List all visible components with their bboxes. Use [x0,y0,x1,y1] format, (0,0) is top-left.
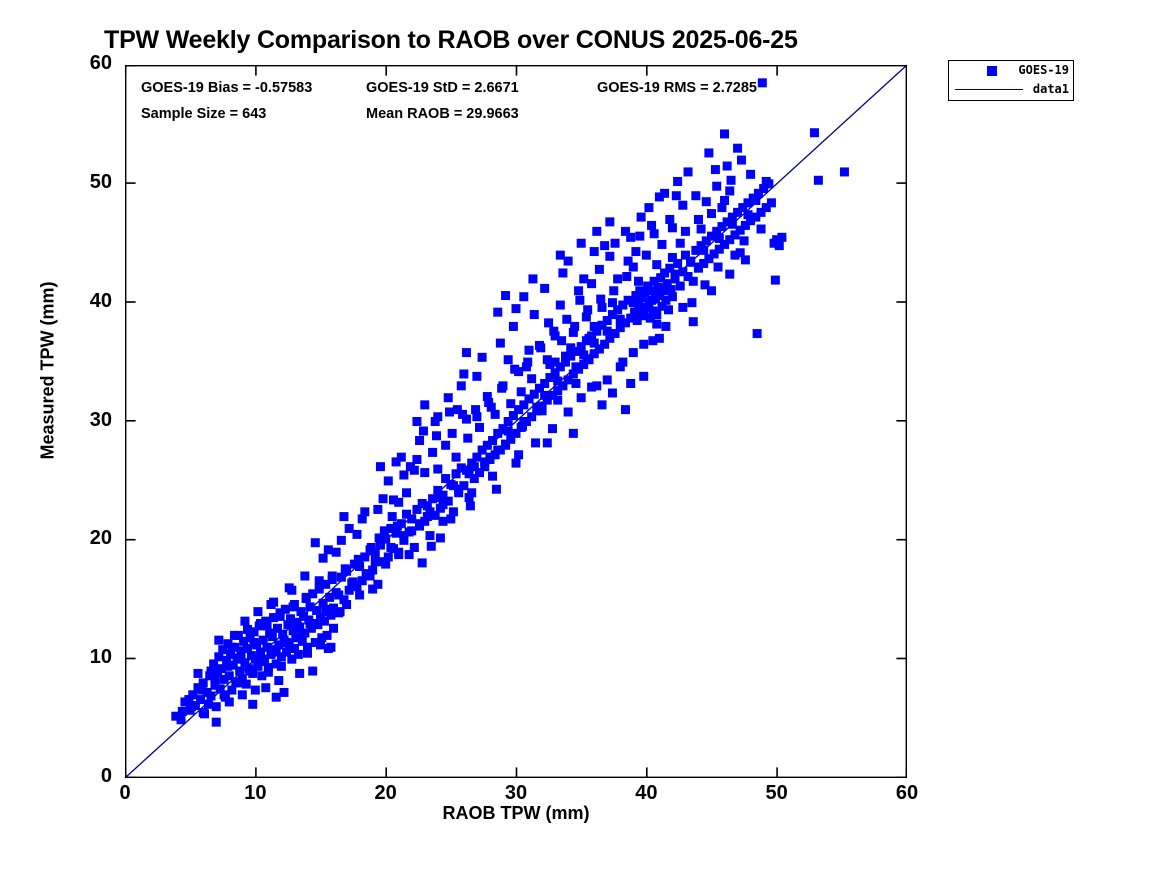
scatter-point [315,576,324,585]
scatter-point [214,636,223,645]
scatter-point [272,693,281,702]
scatter-point [418,558,427,567]
scatter-point [691,191,700,200]
scatter-point [467,488,476,497]
scatter-point [592,381,601,390]
scatter-point [491,410,500,419]
scatter-point [684,167,693,176]
scatter-point [697,224,706,233]
scatter-point [339,512,348,521]
scatter-point [321,605,330,614]
scatter-point [412,417,421,426]
scatter-point [512,304,521,313]
scatter-point [243,625,252,634]
scatter-point [753,329,762,338]
scatter-point [386,543,395,552]
plot-area [125,65,907,778]
scatter-point [624,257,633,266]
scatter-point [556,251,565,260]
scatter-point [650,229,659,238]
scatter-point [664,305,673,314]
scatter-point [261,683,270,692]
scatter-point [543,355,552,364]
scatter-point [635,232,644,241]
scatter-point [259,657,268,666]
scatter-point [237,655,246,664]
scatter-point [733,144,742,153]
scatter-point [428,448,437,457]
scatter-point [238,690,247,699]
scatter-point [496,339,505,348]
scatter-point [540,284,549,293]
scatter-point [634,277,643,286]
scatter-point [240,617,249,626]
scatter-point [510,365,519,374]
scatter-point [531,438,540,447]
scatter-point [207,692,216,701]
scatter-point [655,334,664,343]
scatter-point [639,372,648,381]
scatter-point [767,198,776,207]
scatter-point [287,586,296,595]
scatter-point [557,336,566,345]
scatter-point [771,276,780,285]
scatter-point [373,505,382,514]
scatter-point [715,234,724,243]
scatter-point [564,257,573,266]
scatter-point [504,427,513,436]
scatter-point [523,358,532,367]
scatter-point [577,239,586,248]
scatter-point [439,517,448,526]
scatter-point [306,619,315,628]
scatter-point [553,377,562,386]
line-marker-icon [955,89,1023,90]
scatter-point [598,400,607,409]
scatter-point [436,533,445,542]
scatter-point [300,571,309,580]
scatter-point [629,348,638,357]
scatter-point [199,708,208,717]
scatter-point [509,322,518,331]
scatter-point [436,493,445,502]
scatter-point [394,498,403,507]
scatter-point [295,669,304,678]
scatter-point [230,631,239,640]
scatter-point [528,274,537,283]
chart-figure: TPW Weekly Comparison to RAOB over CONUS… [0,0,1167,875]
scatter-point [178,707,187,716]
scatter-point [277,662,286,671]
scatter-point [676,239,685,248]
scatter-point [575,296,584,305]
scatter-point [609,286,618,295]
scatter-point [207,667,216,676]
x-tick-label: 20 [356,782,416,805]
scatter-point [311,538,320,547]
scatter-point [212,718,221,727]
scatter-point [668,223,677,232]
y-tick-label: 20 [52,527,112,550]
scatter-point [605,217,614,226]
scatter-point [472,372,481,381]
y-axis-label: Measured TPW (mm) [38,201,59,541]
x-tick-label: 30 [486,782,546,805]
scatter-point [393,522,402,531]
scatter-point [341,564,350,573]
scatter-point [652,320,661,329]
scatter-point [452,453,461,462]
scatter-point [590,322,599,331]
scatter-point [665,215,674,224]
scatter-point [253,607,262,616]
scatter-point [574,286,583,295]
x-tick-label: 60 [877,782,937,805]
scatter-point [466,501,475,510]
scatter-point [543,438,552,447]
y-tick-label: 30 [52,409,112,432]
scatter-point [810,128,819,137]
scatter-point [407,514,416,523]
scatter-point [308,667,317,676]
scatter-point [223,662,232,671]
scatter-point [571,362,580,371]
scatter-point [227,643,236,652]
scatter-point [699,246,708,255]
scatter-point [368,585,377,594]
scatter-point [743,210,752,219]
scatter-point [376,462,385,471]
scatter-point [725,270,734,279]
scatter-point [415,519,424,528]
scatter-point [527,374,536,383]
x-tick-label: 50 [747,782,807,805]
scatter-point [639,340,648,349]
chart-legend[interactable]: GOES-19 data1 [948,60,1074,101]
scatter-point [319,554,328,563]
scatter-point [564,407,573,416]
scatter-point [728,220,737,229]
scatter-point [727,176,736,185]
y-tick-label: 10 [52,646,112,669]
scatter-point [561,352,570,361]
scatter-point [475,423,484,432]
scatter-point [250,638,259,647]
scatter-point [448,429,457,438]
scatter-point [751,196,760,205]
annotation-mean-raob: Mean RAOB = 29.9663 [366,106,519,122]
scatter-point [433,465,442,474]
legend-label-data1: data1 [1033,82,1069,96]
scatter-point [227,686,236,695]
scatter-point [251,686,260,695]
scatter-point [689,277,698,286]
scatter-point [427,542,436,551]
scatter-point [345,524,354,533]
scatter-point [712,182,721,191]
scatter-point [569,328,578,337]
scatter-point [459,369,468,378]
scatter-point [352,530,361,539]
scatter-point [595,265,604,274]
scatter-point [501,291,510,300]
annotation-bias: GOES-19 Bias = -0.57583 [141,80,312,96]
scatter-point [388,512,397,521]
scatter-point [324,545,333,554]
scatter-point [840,167,849,176]
scatter-point [671,270,680,279]
x-axis-label: RAOB TPW (mm) [0,803,1032,824]
legend-item-goes19[interactable]: GOES-19 [949,61,1073,81]
y-tick-label: 40 [52,290,112,313]
scatter-point [687,298,696,307]
scatter-point [337,536,346,545]
scatter-point [536,343,545,352]
scatter-point [432,431,441,440]
scatter-point [379,494,388,503]
scatter-point [328,571,337,580]
scatter-point [290,644,299,653]
scatter-point [399,531,408,540]
scatter-point [512,459,521,468]
scatter-point [587,279,596,288]
scatter-point [603,375,612,384]
scatter-point [289,602,298,611]
scatter-point [551,358,560,367]
scatter-point [519,292,528,301]
scatter-point [480,457,489,466]
scatter-point [268,632,277,641]
scatter-point [419,427,428,436]
scatter-point [737,156,746,165]
scatter-point [553,396,562,405]
scatter-point [303,649,312,658]
scatter-point [548,424,557,433]
scatter-point [711,165,720,174]
scatter-point [608,388,617,397]
scatter-point [405,550,414,559]
scatter-point [380,526,389,535]
x-tick-label: 40 [616,782,676,805]
scatter-point [276,612,285,621]
scatter-point [707,286,716,295]
scatter-point [282,638,291,647]
scatter-point [425,531,434,540]
scatter-point [621,227,630,236]
scatter-point [457,381,466,390]
scatter-point [590,247,599,256]
scatter-point [449,481,458,490]
scatter-point [492,485,501,494]
scatter-point [478,353,487,362]
scatter-point [642,251,651,260]
scatter-point [757,224,766,233]
scatter-point [336,607,345,616]
scatter-point [592,227,601,236]
scatter-point [177,715,186,724]
scatter-point [272,648,281,657]
scatter-point [266,600,275,609]
legend-label-goes19: GOES-19 [1018,63,1069,77]
scatter-point [544,318,553,327]
scatter-point [579,350,588,359]
scatter-point [406,462,415,471]
scatter-point [577,393,586,402]
scatter-point [394,548,403,557]
scatter-point [530,310,539,319]
scatter-point [525,346,534,355]
scatter-point [506,399,515,408]
scatter-point [562,315,571,324]
scatter-point [814,176,823,185]
scatter-point [725,186,734,195]
scatter-point [274,676,283,685]
scatter-point [316,640,325,649]
scatter-point [402,488,411,497]
scatter-point [463,434,472,443]
annotation-rms: GOES-19 RMS = 2.7285 [597,80,757,96]
scatter-point [280,688,289,697]
scatter-point [420,400,429,409]
scatter-point [694,263,703,272]
scatter-point [415,436,424,445]
page-title: TPW Weekly Comparison to RAOB over CONUS… [104,26,934,55]
scatter-point [686,258,695,267]
scatter-point [187,702,196,711]
scatter-point [673,177,682,186]
scatter-point [549,327,558,336]
scatter-point [694,215,703,224]
scatter-point [608,298,617,307]
scatter-point [741,255,750,264]
scatter-point [484,398,493,407]
scatter-point [634,310,643,319]
scatter-point [433,412,442,421]
scatter-point [702,197,711,206]
scatter-point [323,631,332,640]
scatter-point [678,201,687,210]
scatter-points [125,65,907,778]
scatter-point [399,470,408,479]
scatter-point [661,322,670,331]
scatter-point [493,446,502,455]
square-marker-icon [987,66,997,76]
scatter-point [746,170,755,179]
scatter-point [569,429,578,438]
scatter-point [678,303,687,312]
scatter-point [465,469,474,478]
x-tick-label: 10 [225,782,285,805]
scatter-point [334,591,343,600]
scatter-point [371,557,380,566]
scatter-point [558,268,567,277]
scatter-point [720,196,729,205]
scatter-point [762,177,771,186]
scatter-point [660,189,669,198]
annotation-std: GOES-19 StD = 2.6671 [366,80,519,96]
scatter-point [501,441,510,450]
scatter-point [613,274,622,283]
scatter-point [616,315,625,324]
scatter-point [366,571,375,580]
scatter-point [517,387,526,396]
scatter-point [263,621,272,630]
scatter-point [590,339,599,348]
scatter-point [384,476,393,485]
scatter-point [444,393,453,402]
scatter-point [248,700,257,709]
scatter-point [668,292,677,301]
scatter-point [672,191,681,200]
scatter-point [220,690,229,699]
scatter-point [532,403,541,412]
scatter-point [488,472,497,481]
scatter-point [777,233,786,242]
scatter-point [381,560,390,569]
scatter-point [425,507,434,516]
scatter-point [445,407,454,416]
annotation-sample-size: Sample Size = 643 [141,106,266,122]
scatter-point [668,253,677,262]
scatter-point [420,468,429,477]
scatter-point [193,669,202,678]
scatter-point [204,700,213,709]
scatter-point [579,274,588,283]
scatter-point [360,507,369,516]
scatter-point [582,312,591,321]
scatter-point [462,348,471,357]
scatter-point [298,629,307,638]
scatter-point [571,379,580,388]
scatter-point [676,282,685,291]
scatter-point [556,301,565,310]
scatter-point [714,263,723,272]
scatter-point [350,581,359,590]
scatter-point [704,148,713,157]
scatter-point [689,317,698,326]
scatter-point [618,358,627,367]
legend-item-data1[interactable]: data1 [949,80,1073,100]
scatter-point [720,129,729,138]
scatter-point [622,272,631,281]
scatter-point [354,555,363,564]
scatter-point [707,209,716,218]
scatter-point [657,240,666,249]
scatter-point [446,514,455,523]
scatter-point [264,668,273,677]
scatter-point [740,236,749,245]
scatter-point [663,284,672,293]
scatter-point [652,310,661,319]
scatter-point [441,441,450,450]
scatter-point [723,162,732,171]
scatter-point [611,239,620,248]
scatter-point [212,702,221,711]
scatter-point [621,405,630,414]
scatter-point [332,548,341,557]
scatter-point [652,260,661,269]
scatter-point [637,213,646,222]
y-tick-label: 60 [52,52,112,75]
scatter-point [493,308,502,317]
scatter-point [681,227,690,236]
scatter-point [566,343,575,352]
scatter-point [407,526,416,535]
scatter-point [626,379,635,388]
scatter-point [600,241,609,250]
scatter-point [775,241,784,250]
scatter-point [596,295,605,304]
